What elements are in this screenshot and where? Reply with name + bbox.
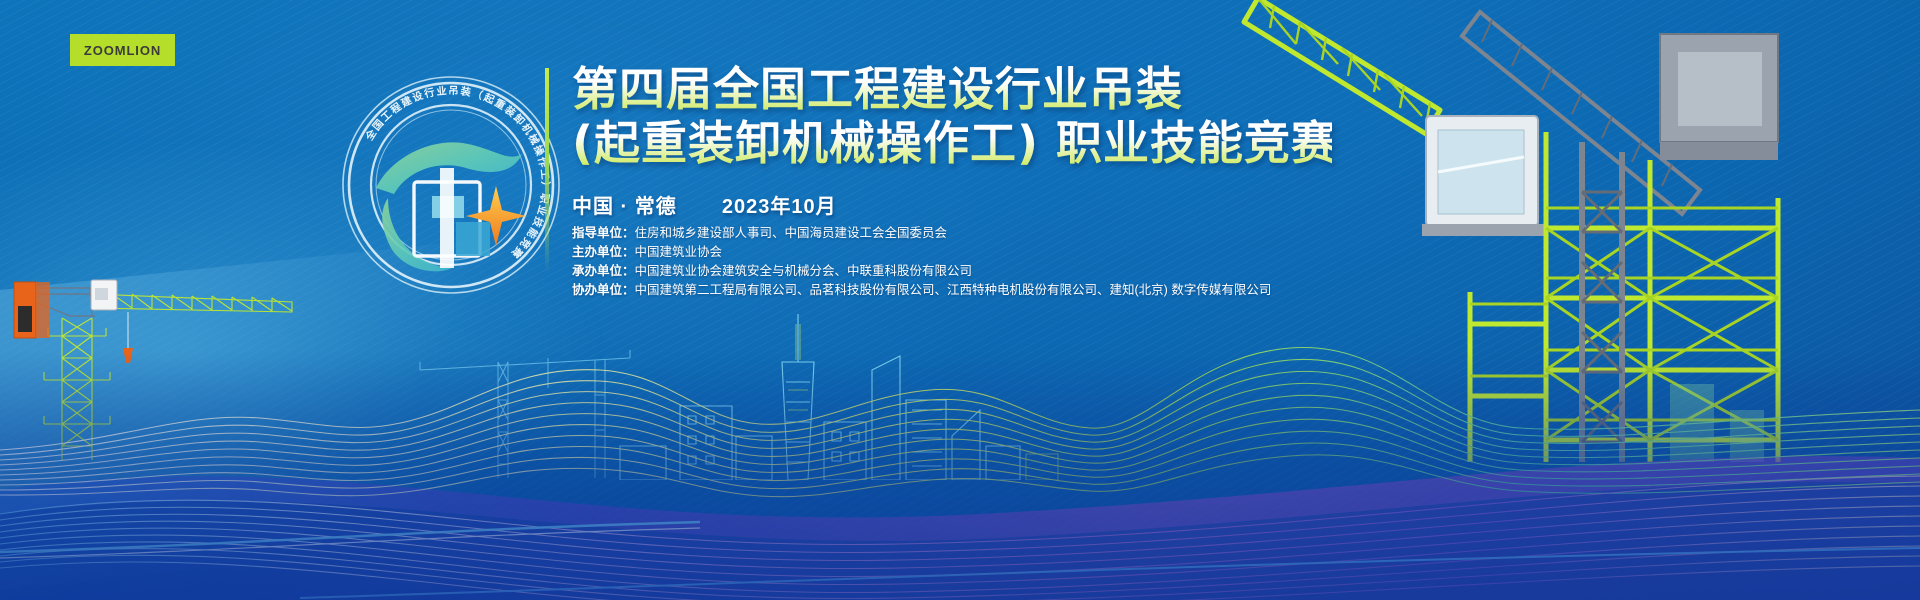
credit-line: 承办单位：中国建筑业协会建筑安全与机械分会、中联重科股份有限公司 <box>572 262 1872 281</box>
credit-role: 协办单位： <box>572 283 635 297</box>
title-line-2: (起重装卸机械操作工) 职业技能竞赛 <box>572 116 1332 170</box>
zoomlion-logo[interactable]: ZOOMLION <box>70 34 175 66</box>
credit-line: 主办单位：中国建筑业协会 <box>572 243 1872 262</box>
credit-role: 承办单位： <box>572 264 635 278</box>
credit-value: 中国建筑业协会建筑安全与机械分会、中联重科股份有限公司 <box>635 264 973 278</box>
credit-line: 指导单位：住房和城乡建设部人事司、中国海员建设工会全国委员会 <box>572 224 1872 243</box>
event-banner: ZOOMLION 全国工程建 <box>0 0 1920 600</box>
bottom-vignette <box>0 350 1920 600</box>
credit-line: 协办单位：中国建筑第二工程局有限公司、品茗科技股份有限公司、江西特种电机股份有限… <box>572 281 1872 300</box>
credit-role: 主办单位： <box>572 245 635 259</box>
title-accent-bar <box>545 68 549 273</box>
organizer-credits: 指导单位：住房和城乡建设部人事司、中国海员建设工会全国委员会 主办单位：中国建筑… <box>572 224 1872 300</box>
event-date: 2023年10月 <box>722 196 837 218</box>
emblem-graphic: 全国工程建设行业吊装（起重装卸机械操作工）职业技能竞赛 <box>336 70 566 300</box>
credit-value: 住房和城乡建设部人事司、中国海员建设工会全国委员会 <box>635 226 948 240</box>
credit-role: 指导单位： <box>572 226 635 240</box>
credit-value: 中国建筑第二工程局有限公司、品茗科技股份有限公司、江西特种电机股份有限公司、建知… <box>635 283 1272 297</box>
title-block: 第四届全国工程建设行业吊装 (起重装卸机械操作工) 职业技能竞赛 <box>572 62 1332 170</box>
event-location: 中国 · 常德 <box>572 196 677 218</box>
credit-value: 中国建筑业协会 <box>635 245 723 259</box>
competition-emblem: 全国工程建设行业吊装（起重装卸机械操作工）职业技能竞赛 <box>336 70 566 300</box>
zoomlion-logo-text: ZOOMLION <box>84 43 161 58</box>
title-line-1: 第四届全国工程建设行业吊装 <box>572 62 1332 116</box>
event-location-date: 中国 · 常德 2023年10月 <box>572 190 837 219</box>
emblem-center-glyph <box>376 142 526 271</box>
